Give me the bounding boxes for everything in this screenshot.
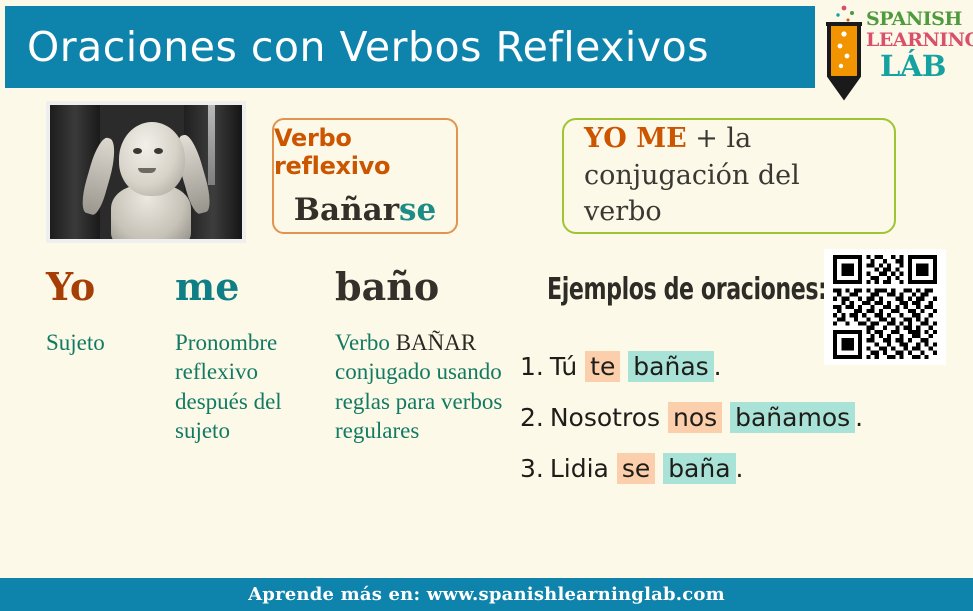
verb-reflexive-ending: se	[399, 192, 436, 228]
example-3-number: 3.	[520, 454, 544, 483]
example-2-verb: bañamos	[730, 402, 855, 433]
example-1-number: 1.	[520, 352, 544, 381]
example-2-number: 2.	[520, 403, 544, 432]
reflexive-verb-word: Bañarse	[294, 192, 436, 228]
example-2-pronoun: nos	[668, 402, 722, 433]
example-2-subject: Nosotros	[550, 403, 660, 432]
example-1-subject: Tú	[550, 352, 577, 381]
structure-desc-pronoun: Pronombre reflexivo después del sujeto	[175, 328, 335, 446]
photo-shower-hose	[208, 105, 215, 185]
brand-logo[interactable]: SPANISH LEARNING LÁB	[818, 2, 971, 106]
qr-code-icon	[833, 255, 937, 359]
structure-col-verb: baño	[335, 268, 520, 306]
logo-line-learning: LEARNING	[866, 31, 971, 50]
formula-rest-line1: + la	[687, 123, 752, 154]
structure-col-pronoun: me	[175, 268, 335, 306]
photo-mouth	[138, 168, 156, 173]
example-sentence-3: 3.Lidia se baña.	[520, 454, 970, 483]
footer-bar: Aprende más en: www.spanishlearninglab.c…	[0, 578, 973, 611]
structure-desc-verb-post: conjugado usando reglas para verbos regu…	[335, 359, 502, 443]
example-1-period: .	[714, 352, 722, 381]
formula-text: YO ME + la conjugación del verbo	[584, 121, 874, 230]
formula-accent: YO ME	[584, 123, 687, 154]
header-bar: Oraciones con Verbos Reflexivos	[5, 6, 815, 88]
structure-word-me: me	[175, 268, 335, 306]
verb-stem: Bañar	[294, 192, 399, 228]
conjugation-formula-box: YO ME + la conjugación del verbo	[562, 118, 896, 234]
structure-descriptions-row: Sujeto Pronombre reflexivo después del s…	[30, 306, 520, 446]
example-3-pronoun: se	[617, 453, 655, 484]
example-3-verb: baña	[663, 453, 735, 484]
photo-head	[119, 122, 185, 196]
structure-desc-col-verb: Verbo BAÑAR conjugado usando reglas para…	[335, 306, 520, 446]
example-2-period: .	[855, 403, 863, 432]
structure-desc-subject: Sujeto	[46, 328, 175, 357]
structure-col-subject: Yo	[30, 268, 175, 306]
infographic-poster: Oraciones con Verbos Reflexivos SPANISH …	[0, 0, 973, 611]
logo-line-spanish: SPANISH	[866, 10, 971, 29]
examples-list: 1.Tú te bañas. 2.Nosotros nos bañamos. 3…	[520, 352, 970, 505]
photo-eye-right	[154, 148, 163, 154]
example-3-subject: Lidia	[550, 454, 609, 483]
photo-image	[50, 105, 242, 239]
page-title: Oraciones con Verbos Reflexivos	[5, 23, 709, 71]
reflexive-verb-label: Verbo reflexivo	[274, 124, 456, 180]
structure-desc-verb-pre: Verbo	[335, 330, 396, 355]
test-tube-pencil-icon	[818, 2, 870, 102]
qr-code[interactable]	[824, 249, 946, 365]
example-sentence-2: 2.Nosotros nos bañamos.	[520, 403, 970, 432]
photo-eye-left	[133, 148, 142, 154]
logo-line-lab: LÁB	[880, 52, 971, 81]
structure-desc-verb: Verbo BAÑAR conjugado usando reglas para…	[335, 328, 520, 446]
structure-word-bano: baño	[335, 268, 520, 306]
examples-heading: Ejemplos de oraciones:	[547, 272, 827, 307]
sentence-structure-breakdown: Yo me baño Sujeto Pronombre reflexivo de…	[30, 268, 520, 446]
structure-desc-col-subject: Sujeto	[30, 306, 175, 446]
logo-wordmark: SPANISH LEARNING LÁB	[866, 10, 971, 81]
reflexive-verb-box: Verbo reflexivo Bañarse	[272, 118, 458, 234]
example-1-verb: bañas	[628, 351, 713, 382]
child-bathing-photo	[46, 101, 246, 243]
footer-website-text[interactable]: Aprende más en: www.spanishlearninglab.c…	[248, 584, 725, 605]
structure-words-row: Yo me baño	[30, 268, 520, 306]
example-1-pronoun: te	[585, 351, 620, 382]
formula-rest-line2: conjugación del verbo	[584, 160, 800, 227]
structure-word-yo: Yo	[46, 268, 175, 306]
structure-desc-verb-infinitive: BAÑAR	[396, 330, 477, 355]
example-3-period: .	[736, 454, 744, 483]
structure-desc-col-pronoun: Pronombre reflexivo después del sujeto	[175, 306, 335, 446]
